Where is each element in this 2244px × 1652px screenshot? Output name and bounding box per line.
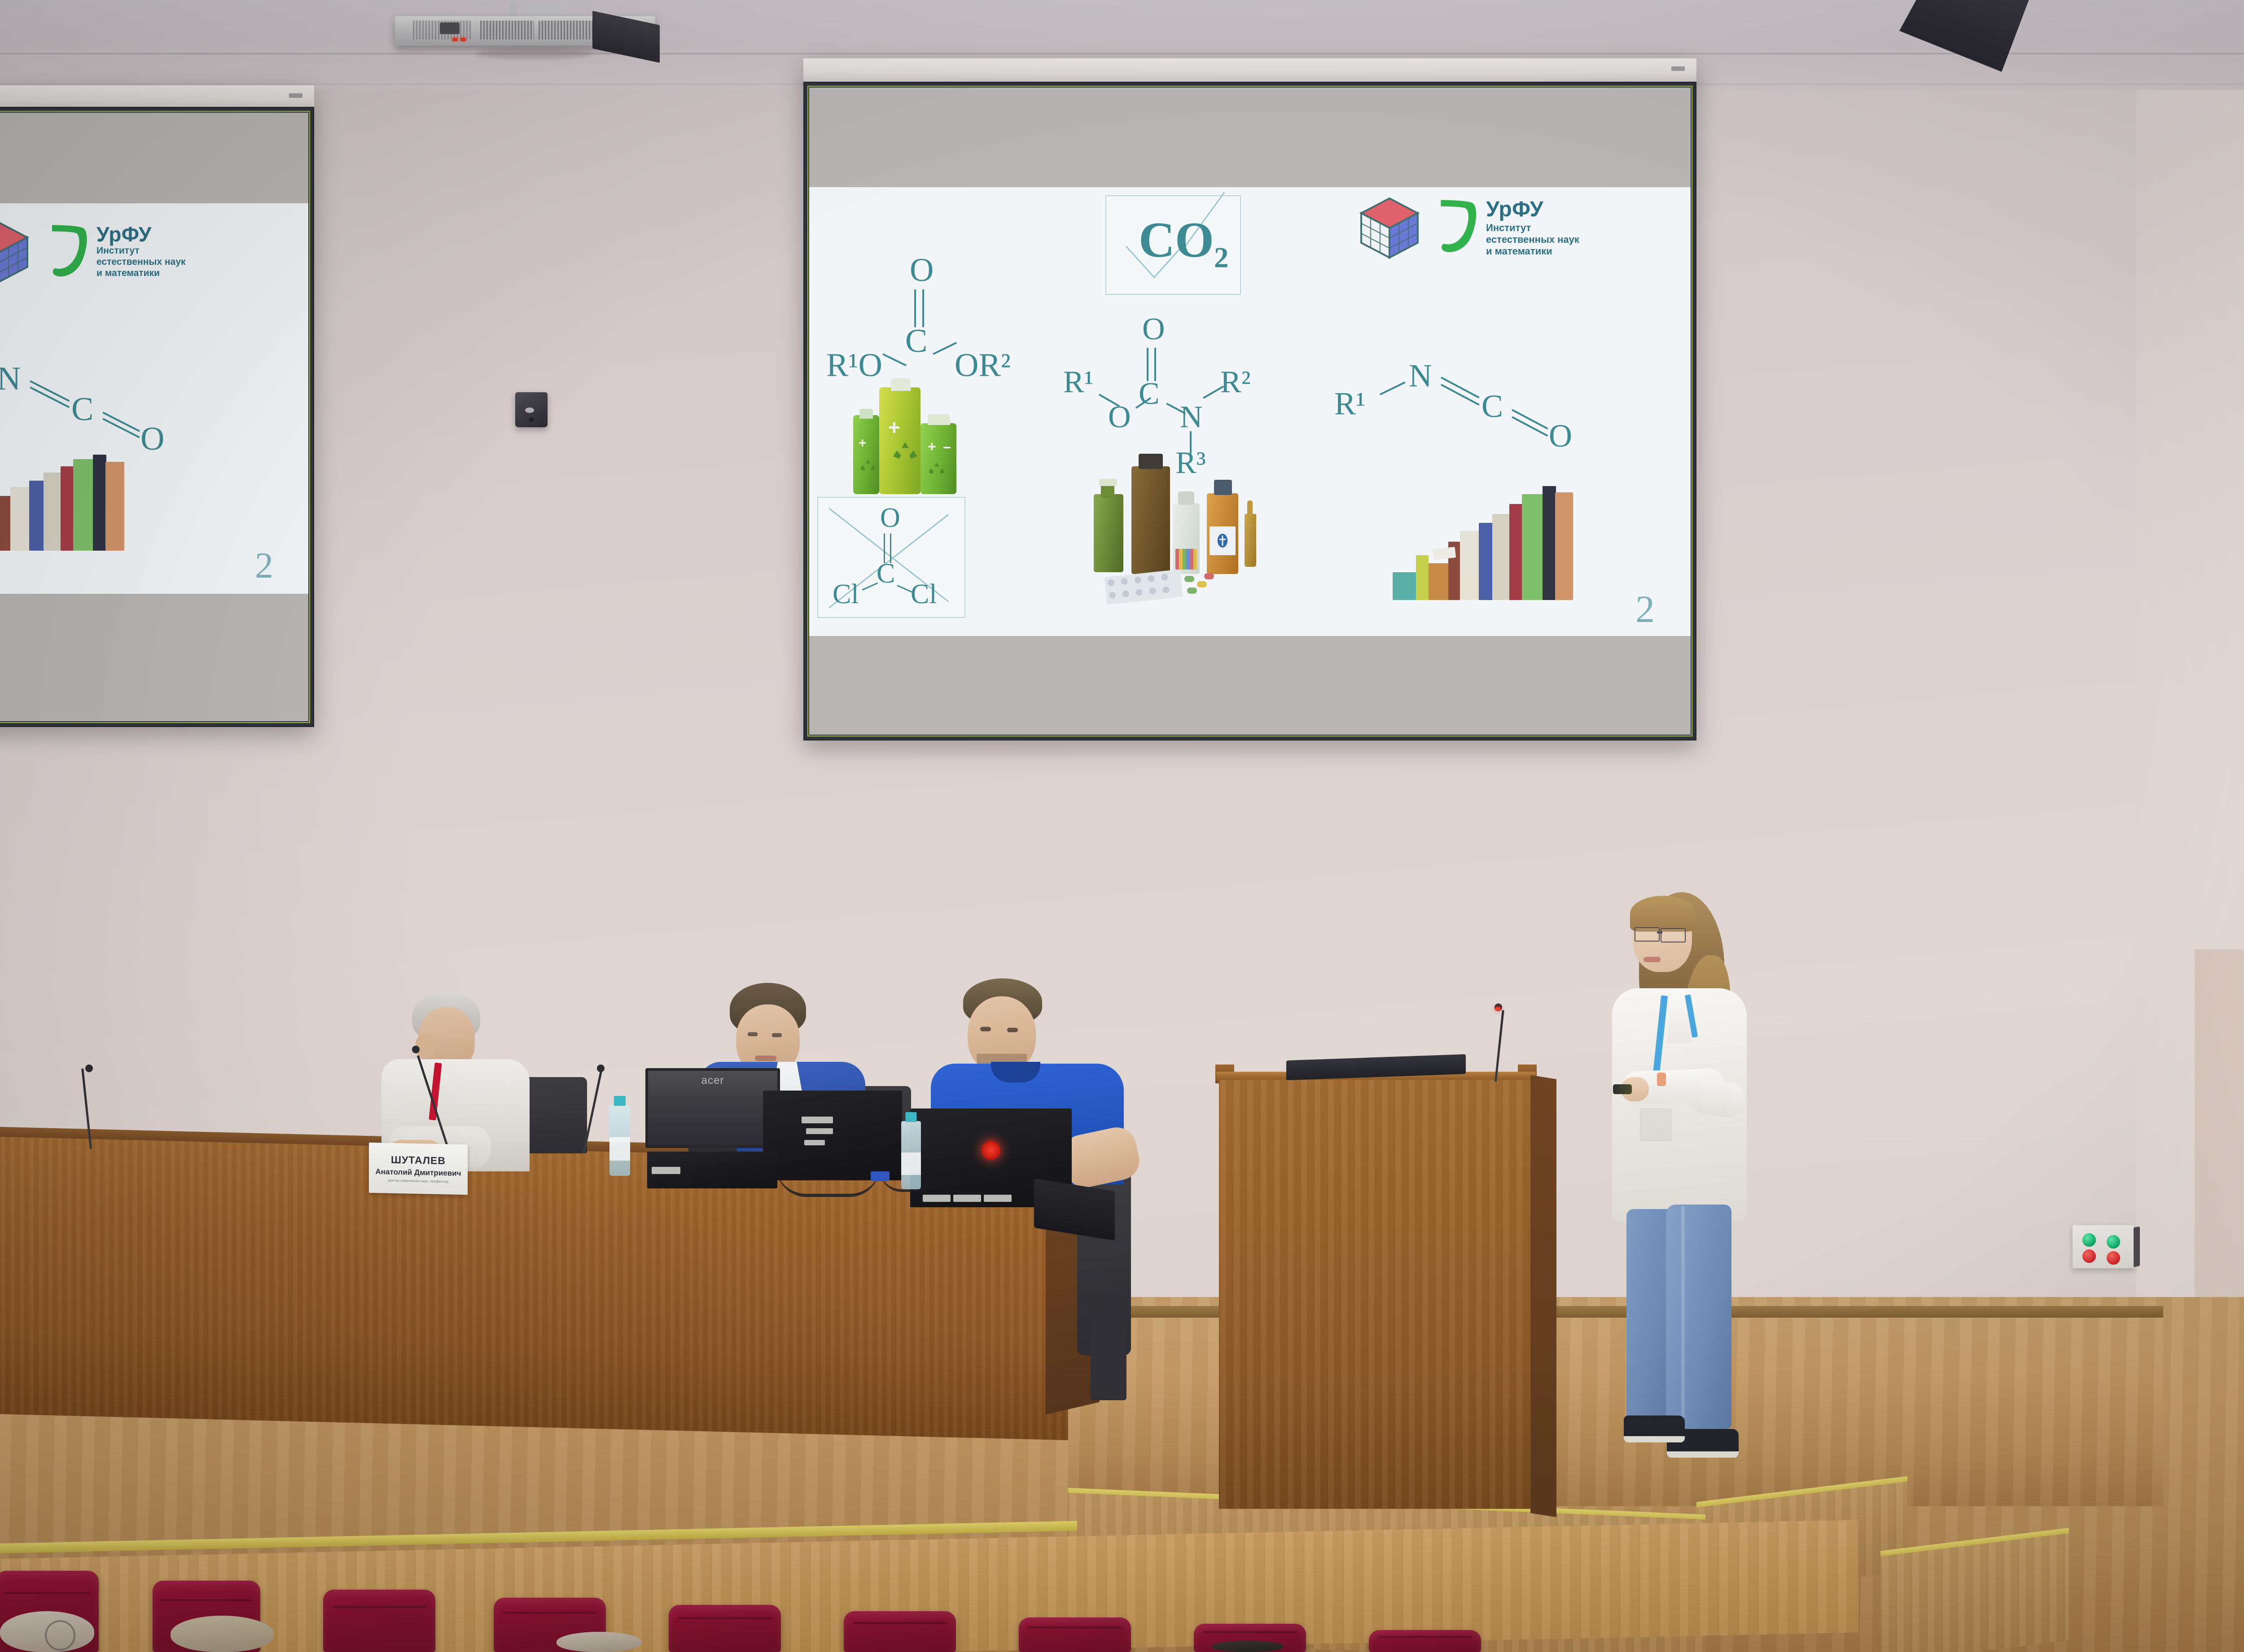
carbamate-o: O [1108,402,1131,433]
nameplate: ШУТАЛЕВ Анатолий Дмитриевич доктор химич… [369,1143,468,1195]
screen-mat-left: УрФУ Институт естественных наук и матема… [0,113,308,721]
slide-page-number: 2 [1635,587,1655,631]
isocyanate-structure-left: R¹ N C O [0,351,199,464]
ceiling-seam [0,53,2244,54]
cube-icon [0,219,33,286]
screen-frame-main: УрФУ Институт естественных наук и матема… [803,82,1696,741]
presenter-jeans-seam [1681,1206,1685,1417]
urfu-acronym-left: УрФУ [96,222,152,246]
presenter-wrist-band [1657,1073,1666,1086]
books-clipart-left [0,455,148,558]
phosgene-cl-right: Cl [911,580,937,608]
recycle-icon-3 [927,460,947,480]
urfu-subtitle-left: Институт естественных наук и математики [96,245,185,279]
ceiling-projector [395,4,655,63]
podium-microphone-led [1495,1007,1500,1011]
screen-mat-main: УрФУ Институт естественных наук и матема… [809,88,1691,735]
audience-head-3 [557,1632,642,1652]
phosgene-cl-left: Cl [833,580,859,608]
nameplate-given-name: Анатолий Дмитриевич [375,1167,461,1178]
isocyanate-o: O [1549,420,1572,452]
carbonate-top-o: O [910,254,934,287]
urfu-subtitle: Институт естественных наук и математики [1486,222,1579,257]
audience-seat-3[interactable] [323,1590,435,1652]
books-clipart [1388,474,1577,605]
wall-sensor-device [515,392,548,427]
recycle-icon-2 [859,457,877,476]
audience-seat-6[interactable] [844,1611,956,1652]
audience-seat-7[interactable] [1019,1617,1131,1652]
projection-screen-left: УрФУ Институт естественных наук и матема… [0,85,314,727]
phosgene-structure: O C Cl Cl [827,501,962,613]
chair-base-dark [1091,1310,1126,1400]
audience-seat-9[interactable] [1369,1630,1481,1652]
isocyanate-n: N [1409,359,1432,392]
blister-pack [1104,569,1183,605]
monitor-brand-label: acer [701,1074,724,1087]
water-bottle-2[interactable] [901,1121,921,1189]
audience-seat-5[interactable] [669,1605,781,1652]
control-red-button-1[interactable] [2082,1249,2096,1263]
co2-label: CO2 [1139,215,1228,272]
cable-loop [776,1167,880,1197]
urfu-logo-main: УрФУ Институт естественных наук и матема… [1356,192,1670,272]
urfu-y-mark [46,220,96,283]
laptop-base-1[interactable] [647,1152,777,1188]
isocyanate-r1: R¹ [1334,387,1366,420]
panel-microphone-head-3 [85,1065,93,1072]
slide-surface-main: УрФУ Институт естественных наук и матема… [809,187,1691,636]
podium [1219,1065,1533,1509]
carbamate-n: N [1180,402,1203,433]
panelist3-eye-left [980,1027,991,1031]
cube-icon-main [1356,194,1423,262]
presenter-glasses-right [1661,928,1686,942]
presenter-shirt-pocket [1640,1109,1671,1141]
urfu-subtitle-line-1: Институт [1486,222,1579,234]
control-red-button-2[interactable] [2107,1251,2120,1265]
panel-microphone-head-1 [412,1046,420,1053]
screen-housing-knob-main [1671,66,1685,71]
screen-housing-left [0,85,314,109]
urfu-subtitle-line-2: естественных наук [1486,234,1579,245]
pharma-label-icon [1215,532,1230,551]
control-green-button-1[interactable] [2082,1233,2096,1247]
wall-control-panel[interactable] [2073,1225,2134,1268]
presenter-clicker[interactable] [1613,1084,1632,1094]
screen-housing-main [803,58,1696,82]
screen-frame-left: УрФУ Институт естественных наук и матема… [0,107,314,727]
phosgene-c: C [877,560,895,587]
isocyanate-c-left: C [71,393,93,426]
presenter-leg-right [1666,1205,1731,1429]
recycle-icon-1 [891,438,920,467]
batteries-clipart: + + + – [853,376,988,497]
carbamate-r1: R¹ [1063,367,1094,398]
audience-glasses [45,1620,75,1651]
panelist2-eye-left [748,1032,758,1036]
urfu-acronym: УрФУ [1486,197,1543,222]
slide-page-number-left: 2 [255,544,273,587]
isocyanate-c: C [1481,390,1503,422]
isocyanate-structure: R¹ N C O [1334,349,1586,483]
screen-housing-knob-left [289,93,302,98]
nameplate-surname: ШУТАЛЕВ [391,1154,446,1167]
laptop-logo-glow [982,1141,1000,1160]
carbamate-r2: R² [1220,367,1251,398]
panel-microphone-head-2 [597,1065,605,1072]
presenter-hair-front [1630,896,1696,932]
battery-minus: – [943,438,951,455]
slide-surface-left: УрФУ Институт естественных наук и матема… [0,203,308,594]
presenter-mouth [1644,957,1661,962]
urfu-subtitle-line-3: и математики [1486,245,1579,257]
isocyanate-o-left: O [140,422,164,456]
audience-head-4 [1212,1641,1284,1652]
presenter-glasses-bridge [1657,932,1662,933]
audience-head-2 [171,1616,274,1652]
nameplate-role: доктор химических наук, профессор [388,1179,449,1184]
presenter-glasses-left [1635,927,1660,942]
carbonate-structure: O C R¹O OR² [826,254,1037,375]
presenter [1614,892,1749,1503]
panelist3-eye-right [1007,1028,1018,1032]
carbamate-top-o: O [1142,314,1165,345]
control-green-button-2[interactable] [2107,1235,2120,1249]
battery-plus-2: + [859,436,867,451]
water-bottle-1[interactable] [609,1105,630,1176]
urfu-y-mark-main [1435,195,1485,259]
presenter-shoe-sole-left [1624,1436,1685,1442]
urfu-logo-left: УрФУ Институт естественных наук и матема… [0,216,239,283]
presenter-shoe-sole-right [1667,1451,1739,1458]
lecture-hall-photo: УрФУ Институт естественных наук и матема… [0,0,2244,1652]
pharma-clipart [1092,438,1280,609]
battery-plus-3: + [928,438,936,455]
phosgene-o: O [880,504,900,532]
carbonate-c: C [905,324,927,358]
projection-screen-main: УрФУ Институт естественных наук и матема… [803,58,1696,741]
battery-plus-1: + [888,415,900,439]
panelist2-mouth [755,1056,776,1061]
cable-connector-blue [871,1171,890,1181]
isocyanate-n-left: N [0,362,21,395]
panelist2-eye-right [772,1033,782,1037]
